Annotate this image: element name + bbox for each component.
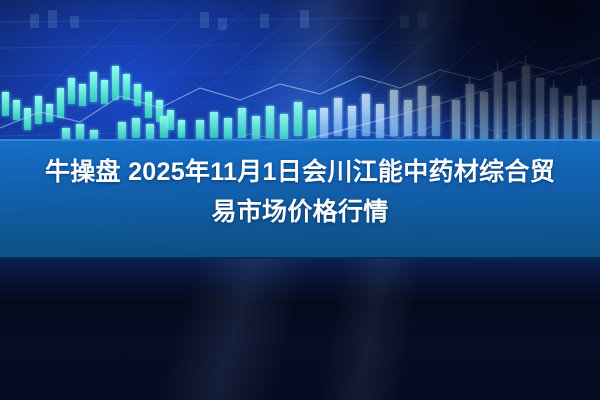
headline-band-top-edge — [0, 139, 600, 141]
headline-line-1: 牛操盘 2025年11月1日会川江能中药材综合贸 — [0, 152, 600, 192]
headline-text: 牛操盘 2025年11月1日会川江能中药材综合贸 易市场价格行情 — [0, 152, 600, 232]
headline-line-2: 易市场价格行情 — [0, 192, 600, 232]
headline-band-bottom-edge — [0, 257, 600, 259]
banner-image: 牛操盘 2025年11月1日会川江能中药材综合贸 易市场价格行情 — [0, 0, 600, 400]
